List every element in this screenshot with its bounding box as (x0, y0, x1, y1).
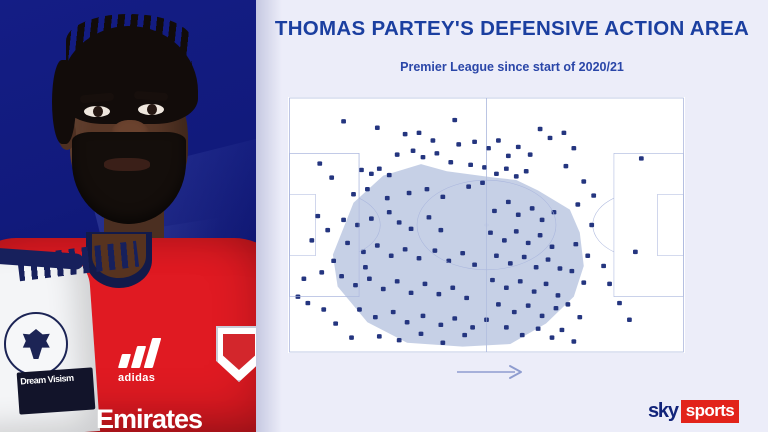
player-mouth (104, 158, 150, 171)
adidas-wordmark: adidas (118, 372, 180, 384)
direction-of-play-arrow (455, 364, 525, 380)
shirt-sponsor-label: Emirates (96, 404, 256, 432)
sky-sports-logo: sky sports (648, 400, 739, 422)
sky-wordmark: sky (648, 400, 678, 423)
player-photo-panel: Dream Visism adidas Emirates (0, 0, 256, 432)
premier-league-lion-icon (21, 329, 51, 359)
player-eye-right (138, 104, 164, 115)
page-subtitle: Premier League since start of 2020/21 (256, 60, 768, 74)
player-beard (72, 132, 186, 224)
sleeve-sponsor-label: Dream Visism (17, 367, 96, 414)
pitch-svg (288, 97, 685, 353)
player-eye-left (84, 106, 110, 117)
adidas-logo-icon: adidas (118, 336, 180, 382)
infographic-canvas: Dream Visism adidas Emirates THOMAS PART… (0, 0, 768, 432)
player-portrait: Dream Visism adidas Emirates (0, 0, 256, 432)
page-title: THOMAS PARTEY'S DEFENSIVE ACTION AREA (256, 17, 768, 41)
premier-league-badge-icon (4, 312, 68, 376)
arrow-right-icon (455, 364, 525, 380)
pitch-chart (288, 97, 685, 353)
player-hair (60, 26, 198, 124)
sports-wordmark: sports (681, 400, 739, 423)
